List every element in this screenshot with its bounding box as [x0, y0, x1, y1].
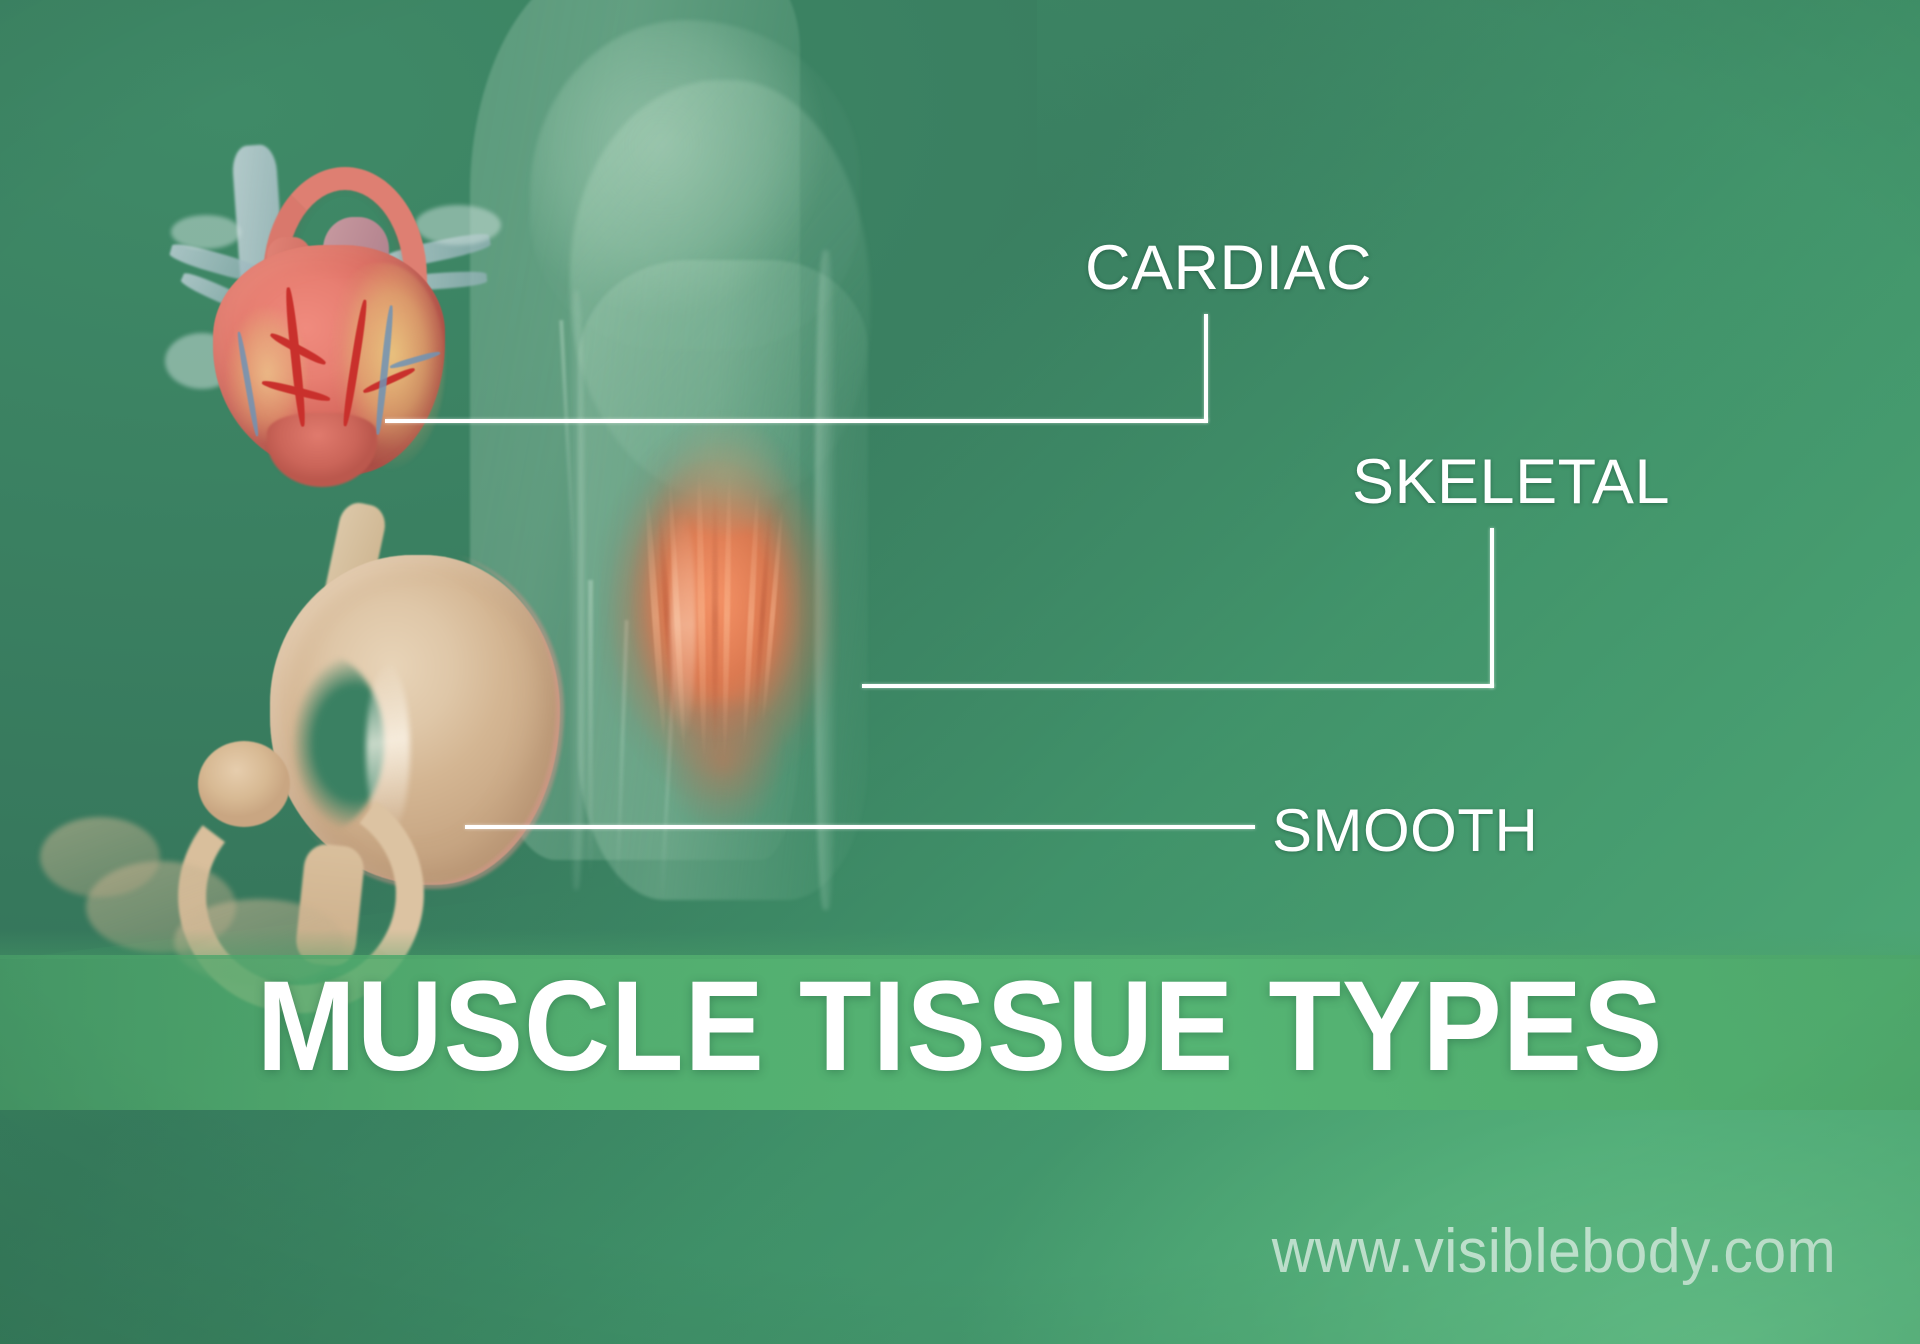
illustration-canvas: CARDIAC SKELETAL SMOOTH MUSCLE TISSUE TY… — [0, 0, 1920, 1344]
vignette-overlay — [0, 0, 1920, 1344]
